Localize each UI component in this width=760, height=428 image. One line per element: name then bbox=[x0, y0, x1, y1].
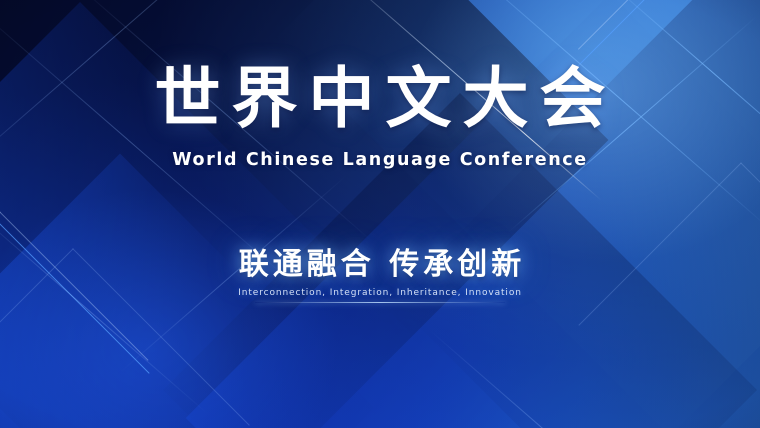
poster-content: 世界中文大会 World Chinese Language Conference… bbox=[0, 0, 760, 428]
tagline-divider bbox=[255, 302, 505, 303]
page-subtitle: World Chinese Language Conference bbox=[172, 150, 587, 170]
tagline-chinese: 联通融合 传承创新 bbox=[235, 248, 525, 283]
conference-poster: 世界中文大会 World Chinese Language Conference… bbox=[0, 0, 760, 428]
tagline-english: Interconnection, Integration, Inheritanc… bbox=[238, 288, 522, 298]
page-title: 世界中文大会 bbox=[144, 66, 617, 132]
tagline-block: 联通融合 传承创新 Interconnection, Integration, … bbox=[0, 248, 760, 303]
